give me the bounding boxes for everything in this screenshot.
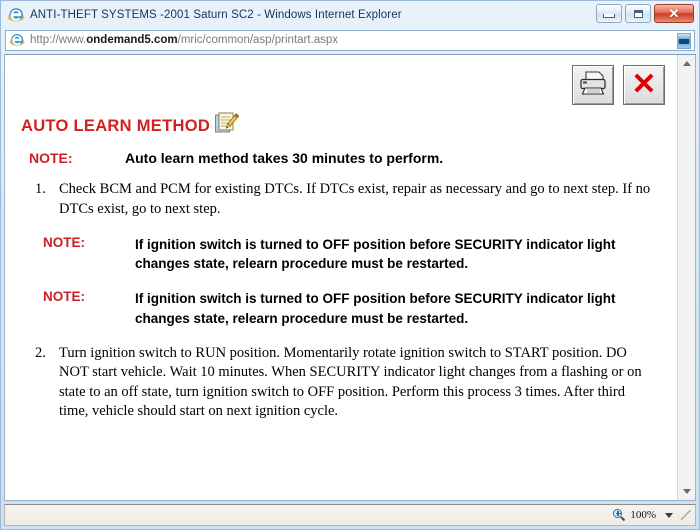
print-icon bbox=[578, 69, 608, 102]
page-title: AUTO LEARN METHOD bbox=[21, 117, 210, 136]
step-text: Check BCM and PCM for existing DTCs. If … bbox=[59, 180, 655, 219]
chevron-down-icon[interactable] bbox=[665, 513, 673, 518]
close-x-icon: ✕ bbox=[631, 70, 656, 100]
title-bar: ANTI-THEFT SYSTEMS -2001 Saturn SC2 - Wi… bbox=[4, 2, 696, 28]
address-url-text: http://www.ondemand5.com/mric/common/asp… bbox=[30, 34, 338, 46]
close-article-button[interactable]: ✕ bbox=[623, 65, 665, 105]
vertical-scrollbar[interactable] bbox=[677, 55, 695, 500]
zoom-in-icon bbox=[613, 509, 626, 522]
note-label: NOTE: bbox=[43, 235, 135, 250]
minimize-button[interactable] bbox=[596, 4, 622, 23]
url-domain: ondemand5.com bbox=[86, 34, 177, 46]
page-document: ✕ AUTO LEARN METHOD bbox=[5, 55, 677, 500]
minimize-icon bbox=[603, 14, 615, 18]
note-text: If ignition switch is turned to OFF posi… bbox=[135, 235, 645, 273]
top-note: NOTE: Auto learn method takes 30 minutes… bbox=[29, 150, 655, 166]
address-input[interactable]: http://www.ondemand5.com/mric/common/asp… bbox=[5, 30, 695, 51]
procedure-steps: 1. Check BCM and PCM for existing DTCs. … bbox=[21, 180, 655, 422]
note-text: Auto learn method takes 30 minutes to pe… bbox=[125, 150, 443, 166]
internet-explorer-icon bbox=[9, 32, 25, 48]
step-item: 2. Turn ignition switch to RUN position.… bbox=[21, 344, 655, 422]
ie-browser-window: ANTI-THEFT SYSTEMS -2001 Saturn SC2 - Wi… bbox=[0, 0, 700, 530]
print-button[interactable] bbox=[572, 65, 614, 105]
window-controls: ✕ bbox=[596, 4, 694, 23]
rss-feed-icon[interactable] bbox=[677, 33, 691, 49]
step-text: Turn ignition switch to RUN position. Mo… bbox=[59, 344, 655, 422]
address-bar: http://www.ondemand5.com/mric/common/asp… bbox=[4, 28, 696, 52]
article-body: AUTO LEARN METHOD bbox=[5, 55, 677, 422]
step-number: 1. bbox=[35, 180, 46, 200]
chevron-down-icon bbox=[683, 489, 691, 494]
step-number: 2. bbox=[35, 344, 46, 364]
chevron-up-icon bbox=[683, 61, 691, 66]
note-label: NOTE: bbox=[29, 150, 125, 166]
close-button[interactable]: ✕ bbox=[654, 4, 694, 23]
notepad-pencil-icon bbox=[214, 111, 240, 135]
status-bar: 100% bbox=[4, 504, 696, 526]
browser-content-frame: ✕ AUTO LEARN METHOD bbox=[4, 54, 696, 501]
close-icon: ✕ bbox=[669, 7, 680, 20]
note-text: If ignition switch is turned to OFF posi… bbox=[135, 289, 645, 327]
zoom-level: 100% bbox=[630, 509, 656, 521]
zoom-control[interactable]: 100% bbox=[613, 509, 677, 522]
note-label: NOTE: bbox=[43, 289, 135, 304]
scroll-down-button[interactable] bbox=[678, 483, 695, 500]
url-prefix: http://www. bbox=[30, 34, 86, 46]
maximize-icon bbox=[634, 10, 643, 18]
step-note: NOTE: If ignition switch is turned to OF… bbox=[43, 235, 655, 273]
maximize-button[interactable] bbox=[625, 4, 651, 23]
url-path: /mric/common/asp/printart.aspx bbox=[178, 34, 338, 46]
step-item: 1. Check BCM and PCM for existing DTCs. … bbox=[21, 180, 655, 219]
page-toolbar: ✕ bbox=[572, 65, 665, 105]
window-title: ANTI-THEFT SYSTEMS -2001 Saturn SC2 - Wi… bbox=[30, 9, 402, 21]
step-note: NOTE: If ignition switch is turned to OF… bbox=[43, 289, 655, 327]
scroll-up-button[interactable] bbox=[678, 55, 695, 72]
internet-explorer-icon bbox=[7, 6, 25, 24]
resize-grip[interactable] bbox=[681, 510, 691, 520]
article-heading-row: AUTO LEARN METHOD bbox=[21, 117, 655, 136]
